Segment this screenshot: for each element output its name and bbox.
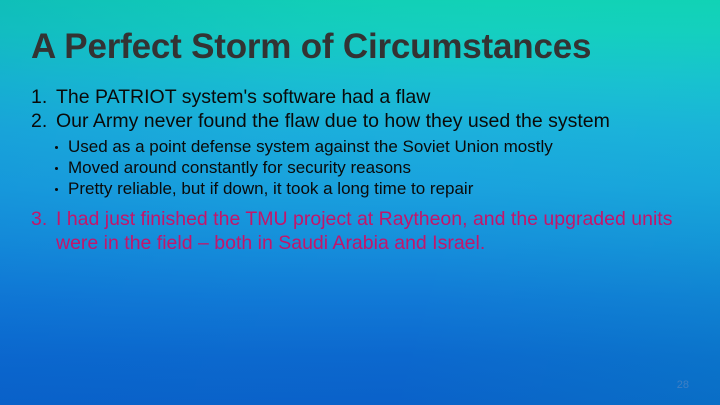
page-title: A Perfect Storm of Circumstances bbox=[31, 26, 695, 68]
sub-list-item: Used as a point defense system against t… bbox=[31, 136, 693, 157]
page-number: 28 bbox=[677, 379, 689, 392]
sub-list-item-text: Pretty reliable, but if down, it took a … bbox=[68, 179, 473, 198]
list-item-text: The PATRIOT system's software had a flaw bbox=[56, 86, 430, 108]
list-item-text: I had just finished the TMU project at R… bbox=[56, 208, 672, 254]
list-item: 3. I had just finished the TMU project a… bbox=[31, 208, 693, 255]
bullet-dot-icon bbox=[55, 146, 58, 149]
slide-body-list: 1. The PATRIOT system's software had a f… bbox=[31, 86, 693, 255]
list-item-marker: 2. bbox=[31, 110, 53, 134]
list-item: 2. Our Army never found the flaw due to … bbox=[31, 110, 693, 134]
sub-list: Used as a point defense system against t… bbox=[31, 136, 693, 199]
bullet-dot-icon bbox=[55, 188, 58, 191]
list-item: 1. The PATRIOT system's software had a f… bbox=[31, 86, 693, 110]
list-item-text: Our Army never found the flaw due to how… bbox=[56, 110, 610, 132]
sub-list-item-text: Used as a point defense system against t… bbox=[68, 137, 553, 156]
sub-list-item: Moved around constantly for security rea… bbox=[31, 157, 693, 178]
sub-list-item: Pretty reliable, but if down, it took a … bbox=[31, 178, 693, 199]
sub-list-item-text: Moved around constantly for security rea… bbox=[68, 158, 411, 177]
slide-canvas: A Perfect Storm of Circumstances 1. The … bbox=[0, 0, 720, 405]
list-item-marker: 3. bbox=[31, 208, 53, 232]
slide-content: A Perfect Storm of Circumstances 1. The … bbox=[0, 0, 720, 405]
list-item-marker: 1. bbox=[31, 86, 53, 110]
bullet-dot-icon bbox=[55, 167, 58, 170]
